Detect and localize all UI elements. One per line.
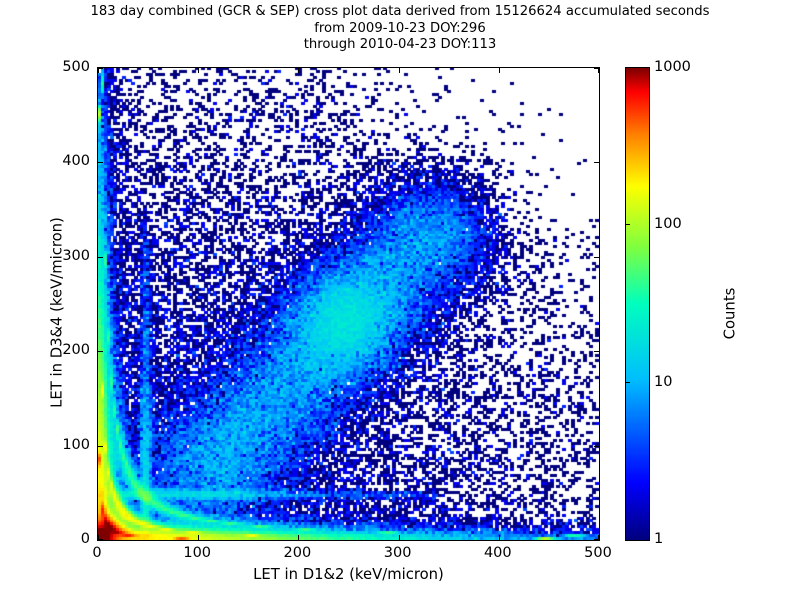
x-tick bbox=[399, 535, 400, 540]
y-tick bbox=[98, 68, 103, 69]
y-tick bbox=[594, 257, 599, 258]
colorbar bbox=[625, 67, 650, 541]
colorbar-tick bbox=[625, 382, 630, 383]
x-tick bbox=[198, 68, 199, 73]
y-tick-label: 200 bbox=[20, 342, 90, 358]
colorbar-tick-label: 100 bbox=[654, 216, 682, 232]
colorbar-tick bbox=[625, 224, 630, 225]
figure-root: 183 day combined (GCR & SEP) cross plot … bbox=[0, 0, 800, 600]
x-tick-label: 500 bbox=[584, 545, 612, 561]
y-tick bbox=[98, 351, 103, 352]
x-tick-label: 400 bbox=[484, 545, 512, 561]
y-tick-label: 300 bbox=[20, 248, 90, 264]
y-tick bbox=[594, 162, 599, 163]
x-tick bbox=[499, 68, 500, 73]
x-tick bbox=[198, 535, 199, 540]
y-tick bbox=[98, 162, 103, 163]
title-line-1: 183 day combined (GCR & SEP) cross plot … bbox=[0, 4, 800, 21]
y-tick bbox=[594, 446, 599, 447]
y-tick-label: 400 bbox=[20, 153, 90, 169]
x-axis-label: LET in D1&2 (keV/micron) bbox=[97, 566, 600, 583]
x-tick-label: 0 bbox=[92, 545, 101, 561]
y-tick-label: 0 bbox=[20, 531, 90, 547]
title-line-3: through 2010-04-23 DOY:113 bbox=[0, 37, 800, 54]
y-tick bbox=[98, 446, 103, 447]
y-tick bbox=[594, 351, 599, 352]
y-tick bbox=[98, 539, 103, 540]
figure-title: 183 day combined (GCR & SEP) cross plot … bbox=[0, 4, 800, 54]
y-tick bbox=[594, 68, 599, 69]
x-tick-label: 100 bbox=[183, 545, 211, 561]
density-heatmap bbox=[98, 68, 599, 540]
y-axis-label: LET in D3&4 (keV/micron) bbox=[49, 163, 66, 463]
colorbar-tick-label: 1 bbox=[654, 531, 663, 547]
y-tick-label: 500 bbox=[20, 59, 90, 75]
y-tick-label: 100 bbox=[20, 437, 90, 453]
colorbar-tick-label: 1000 bbox=[654, 59, 691, 75]
title-line-2: from 2009-10-23 DOY:296 bbox=[0, 21, 800, 38]
x-tick bbox=[399, 68, 400, 73]
x-tick-label: 200 bbox=[284, 545, 312, 561]
plot-axes bbox=[97, 67, 600, 541]
colorbar-gradient bbox=[626, 68, 649, 540]
colorbar-label: Counts bbox=[722, 194, 739, 434]
y-tick bbox=[98, 257, 103, 258]
x-tick bbox=[499, 535, 500, 540]
x-tick bbox=[298, 68, 299, 73]
y-tick bbox=[594, 539, 599, 540]
x-tick bbox=[298, 535, 299, 540]
x-tick-label: 300 bbox=[384, 545, 412, 561]
colorbar-tick-label: 10 bbox=[654, 374, 672, 390]
